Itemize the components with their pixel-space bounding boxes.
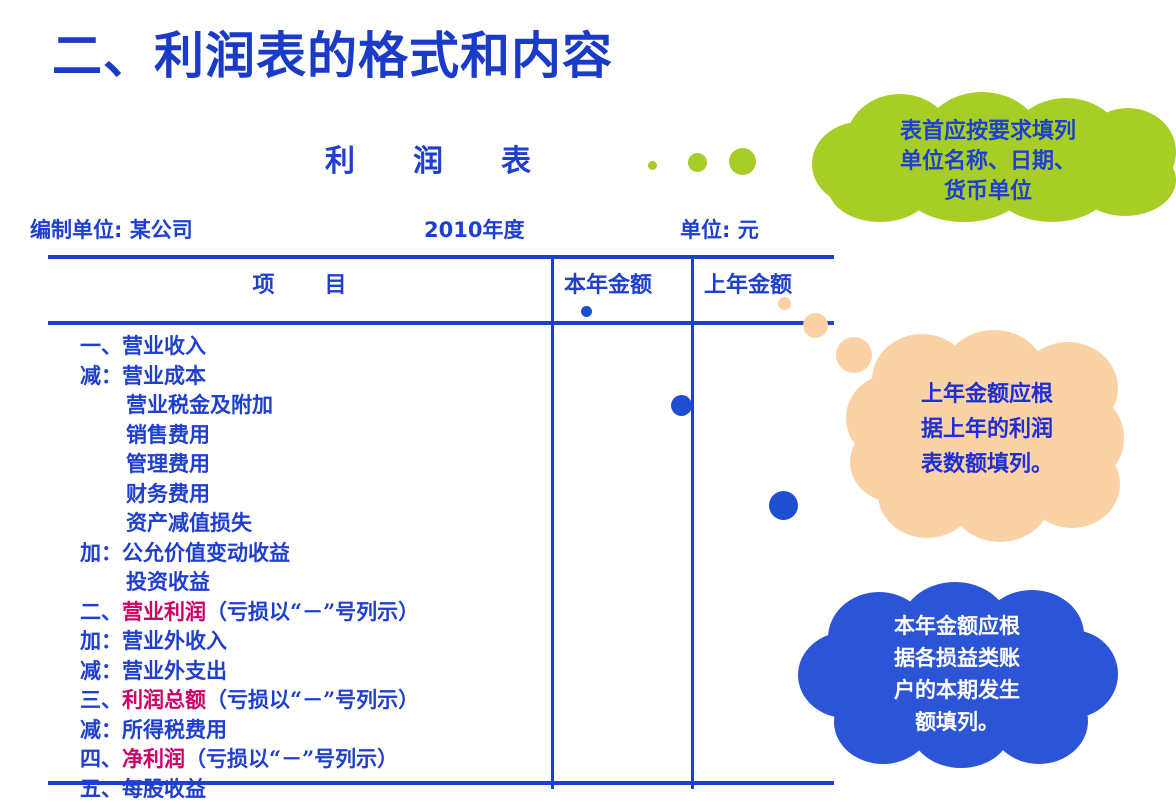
line-item-prefix: 减： (80, 656, 122, 686)
line-item-prefix: 四、 (80, 744, 122, 774)
callout-cloud-header: 表首应按要求填列 单位名称、日期、 货币单位 (812, 92, 1176, 222)
callout-prior-year-text: 上年金额应根 据上年的利润 表数额填列。 (884, 377, 1090, 482)
report-company: 编制单位: 某公司 (30, 214, 193, 244)
pointer-dot-peach-small (778, 297, 791, 310)
line-item: 二、营业利润（亏损以“－”号列示） (80, 597, 540, 627)
line-item-label: 每股收益 (122, 776, 206, 801)
column-divider-2 (691, 259, 694, 789)
line-item-label: 营业外支出 (122, 658, 227, 683)
callout-cloud-current-year: 本年金额应根 据各损益类账 户的本期发生 额填列。 (798, 582, 1118, 768)
callout-current-year-text: 本年金额应根 据各损益类账 户的本期发生 额填列。 (846, 610, 1068, 738)
line-item-prefix: 二、 (80, 597, 122, 627)
line-item-prefix: 减： (80, 361, 122, 391)
line-item-label: 净利润 (122, 746, 185, 771)
line-item-label: 所得税费用 (122, 717, 227, 742)
line-item: 营业税金及附加 (80, 390, 540, 420)
line-item-note: （亏损以“－”号列示） (185, 746, 398, 771)
line-item-label: 投资收益 (126, 569, 210, 594)
line-item-label: 销售费用 (126, 422, 210, 447)
line-item-label: 资产减值损失 (126, 510, 252, 535)
column-header-prior-year: 上年金额 (704, 267, 792, 299)
line-item: 减：所得税费用 (80, 715, 540, 745)
line-item: 加：营业外收入 (80, 626, 540, 656)
pointer-dot-green-large (729, 148, 756, 175)
line-item: 财务费用 (80, 479, 540, 509)
line-item-list: 一、营业收入减：营业成本营业税金及附加销售费用管理费用财务费用资产减值损失加：公… (80, 331, 540, 803)
page-title: 二、利润表的格式和内容 (52, 16, 613, 88)
line-item: 三、利润总额（亏损以“－”号列示） (80, 685, 540, 715)
line-item-label: 营业税金及附加 (126, 392, 273, 417)
pointer-dot-green-medium (688, 153, 707, 172)
line-item: 管理费用 (80, 449, 540, 479)
report-heading: 利润表 (325, 136, 589, 180)
line-item-label: 营业成本 (122, 363, 206, 388)
line-item-label: 营业利润 (122, 599, 206, 624)
column-divider-1 (551, 259, 554, 789)
line-item: 销售费用 (80, 420, 540, 450)
callout-header-text: 表首应按要求填列 单位名称、日期、 货币单位 (838, 117, 1138, 207)
callout-cloud-prior-year: 上年金额应根 据上年的利润 表数额填列。 (846, 330, 1124, 542)
line-item-label: 财务费用 (126, 481, 210, 506)
line-item: 一、营业收入 (80, 331, 540, 361)
pointer-dot-peach-medium (803, 313, 828, 338)
line-item-prefix: 五、 (80, 774, 122, 804)
line-item-prefix: 三、 (80, 685, 122, 715)
pointer-dot-blue-small (581, 306, 592, 317)
pointer-dot-blue-large (769, 491, 798, 520)
report-period: 2010年度 (424, 214, 524, 244)
income-statement-table: 项目 本年金额 上年金额 一、营业收入减：营业成本营业税金及附加销售费用管理费用… (48, 255, 834, 785)
pointer-dot-green-small (648, 161, 657, 170)
line-item: 减：营业外支出 (80, 656, 540, 686)
line-item-note: （亏损以“－”号列示） (206, 687, 419, 712)
line-item-prefix: 加： (80, 626, 122, 656)
line-item-label: 管理费用 (126, 451, 210, 476)
line-item-prefix: 一、 (80, 331, 122, 361)
line-item-prefix: 加： (80, 538, 122, 568)
line-item: 投资收益 (80, 567, 540, 597)
line-item: 五、每股收益 (80, 774, 540, 804)
table-header-row: 项目 本年金额 上年金额 (48, 259, 834, 325)
line-item-prefix: 减： (80, 715, 122, 745)
column-header-current-year: 本年金额 (564, 267, 652, 299)
line-item-label: 公允价值变动收益 (122, 540, 290, 565)
line-item: 资产减值损失 (80, 508, 540, 538)
line-item: 加：公允价值变动收益 (80, 538, 540, 568)
line-item-label: 利润总额 (122, 687, 206, 712)
column-header-item: 项目 (48, 267, 551, 299)
slide-canvas: 二、利润表的格式和内容 利润表 编制单位: 某公司 2010年度 单位: 元 项… (0, 0, 1176, 804)
line-item-label: 营业收入 (122, 333, 206, 358)
pointer-dot-blue-medium (671, 395, 692, 416)
line-item: 减：营业成本 (80, 361, 540, 391)
line-item-label: 营业外收入 (122, 628, 227, 653)
line-item-note: （亏损以“－”号列示） (206, 599, 419, 624)
line-item: 四、净利润（亏损以“－”号列示） (80, 744, 540, 774)
report-currency-unit: 单位: 元 (680, 214, 759, 244)
